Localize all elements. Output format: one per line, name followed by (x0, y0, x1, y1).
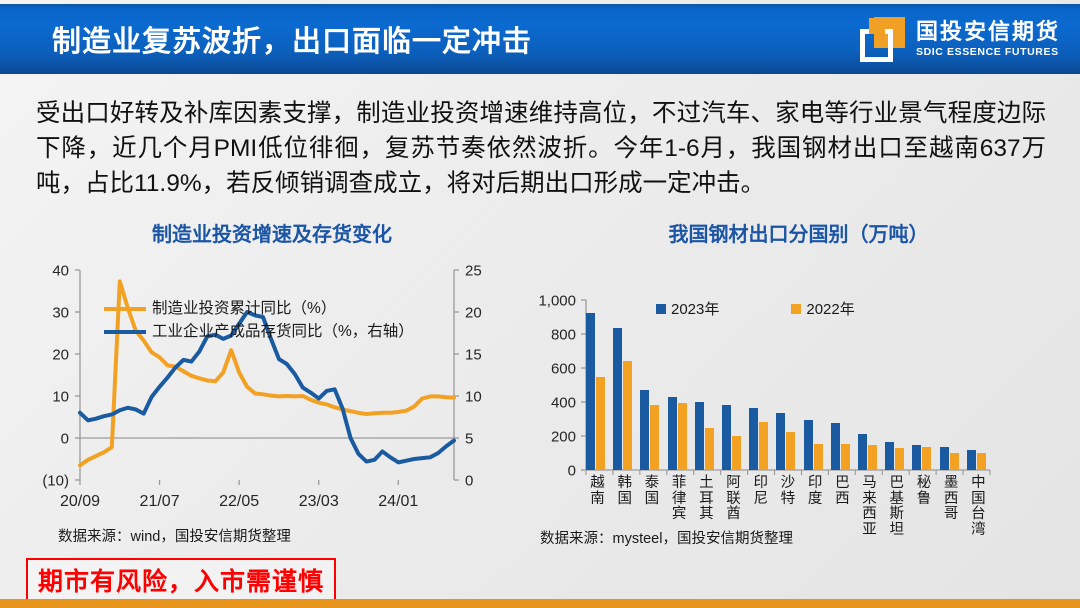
left-chart-panel: 制造业投资增速及存货变化 403020100(10)252015105020/0… (22, 218, 522, 538)
bar-category-label: 墨西哥 (940, 476, 963, 571)
bar-category-label: 巴基斯坦 (885, 476, 908, 571)
bar-group (858, 300, 881, 470)
svg-text:(10): (10) (42, 473, 69, 490)
line-chart-legend: 制造业投资累计同比（%） 工业企业产成品存货同比（%，右轴） (104, 297, 414, 343)
bar-category-label: 中国台湾 (967, 476, 990, 571)
svg-text:24/01: 24/01 (378, 493, 418, 510)
svg-text:10: 10 (52, 389, 69, 406)
bar-2022 (678, 403, 687, 470)
bar-group (586, 300, 609, 470)
bar-category-label: 秘鲁 (912, 476, 935, 571)
bar-group (967, 300, 990, 470)
bar-chart: 1,0008006004002000 2023年 2022年 越南韩国泰国菲律宾… (526, 252, 1071, 538)
bar-group (831, 300, 854, 470)
bar-category-label: 菲律宾 (668, 476, 691, 571)
legend-swatch-investment (104, 307, 146, 311)
bar-2022 (922, 447, 931, 470)
svg-text:5: 5 (465, 431, 473, 448)
summary-paragraph: 受出口好转及补库因素支撑，制造业投资增速维持高位，不过汽车、家电等行业景气程度边… (36, 96, 1046, 201)
svg-text:800: 800 (551, 327, 576, 344)
svg-text:25: 25 (465, 263, 482, 280)
svg-text:20: 20 (465, 305, 482, 322)
bar-category-label: 泰国 (640, 476, 663, 571)
bar-2023 (776, 413, 785, 470)
bar-2022 (977, 453, 986, 470)
line-chart-svg: 403020100(10)252015105020/0921/0722/0523… (22, 252, 522, 538)
bar-category-label: 韩国 (613, 476, 636, 571)
bar-group (668, 300, 691, 470)
right-chart-panel: 我国钢材出口分国别（万吨） 1,0008006004002000 2023年 2… (526, 218, 1071, 538)
svg-text:10: 10 (465, 389, 482, 406)
right-chart-source: 数据来源：mysteel，国投安信期货整理 (540, 527, 793, 548)
bar-2023 (695, 402, 704, 470)
bar-2022 (814, 444, 823, 470)
svg-text:21/07: 21/07 (140, 493, 180, 510)
bar-2022 (650, 405, 659, 470)
bar-category-label: 印尼 (749, 476, 772, 571)
bar-2022 (623, 361, 632, 470)
bar-category-label: 阿联酋 (722, 476, 745, 571)
bar-2022 (950, 453, 959, 471)
bar-2022 (841, 444, 850, 470)
bar-2023 (967, 450, 976, 470)
svg-text:15: 15 (465, 347, 482, 364)
logo-name-cn: 国投安信期货 (916, 21, 1060, 43)
svg-text:0: 0 (61, 431, 69, 448)
bar-2023 (858, 434, 867, 470)
bar-series-container (586, 300, 990, 470)
legend-label-inventory: 工业企业产成品存货同比（%，右轴） (152, 320, 414, 343)
bar-2023 (804, 420, 813, 470)
page-header: 制造业复苏波折，出口面临一定冲击 国投安信期货 SDIC ESSENCE FUT… (0, 4, 1080, 74)
bar-group (722, 300, 745, 470)
bar-2023 (831, 423, 840, 470)
bar-group (940, 300, 963, 470)
bar-2023 (722, 405, 731, 470)
company-logo: 国投安信期货 SDIC ESSENCE FUTURES (860, 17, 1066, 62)
right-chart-title: 我国钢材出口分国别（万吨） (526, 218, 1071, 247)
svg-text:23/03: 23/03 (299, 493, 339, 510)
page-title: 制造业复苏波折，出口面临一定冲击 (52, 18, 532, 60)
legend-swatch-inventory (104, 330, 146, 334)
svg-text:20/09: 20/09 (60, 493, 100, 510)
bar-category-label: 沙特 (776, 476, 799, 571)
bar-group (885, 300, 908, 470)
bar-category-label: 越南 (586, 476, 609, 571)
bottom-accent-strip (0, 599, 1080, 608)
legend-label-investment: 制造业投资累计同比（%） (152, 297, 336, 320)
svg-text:0: 0 (465, 473, 473, 490)
legend-item-investment: 制造业投资累计同比（%） (104, 297, 414, 320)
bar-category-label: 马来西亚 (858, 476, 881, 571)
bar-group (695, 300, 718, 470)
line-chart: 403020100(10)252015105020/0921/0722/0523… (22, 252, 522, 538)
bar-2022 (868, 445, 877, 470)
bar-2023 (749, 408, 758, 470)
svg-text:0: 0 (568, 463, 576, 480)
bar-2022 (895, 448, 904, 470)
bar-group (640, 300, 663, 470)
svg-text:22/05: 22/05 (219, 493, 259, 510)
bar-group (804, 300, 827, 470)
bar-2022 (759, 422, 768, 470)
bar-2022 (705, 428, 714, 470)
bar-2022 (786, 432, 795, 470)
bar-2023 (613, 328, 622, 470)
svg-text:400: 400 (551, 395, 576, 412)
bar-2023 (912, 445, 921, 470)
svg-text:30: 30 (52, 305, 69, 322)
bar-category-label: 巴西 (831, 476, 854, 571)
bar-2023 (640, 390, 649, 470)
bar-group (776, 300, 799, 470)
svg-text:40: 40 (52, 263, 69, 280)
svg-text:20: 20 (52, 347, 69, 364)
bar-category-label: 土耳其 (695, 476, 718, 571)
bar-category-label: 印度 (804, 476, 827, 571)
svg-text:600: 600 (551, 361, 576, 378)
left-chart-title: 制造业投资增速及存货变化 (22, 218, 522, 247)
sdic-logo-icon (860, 17, 907, 62)
logo-name-en: SDIC ESSENCE FUTURES (916, 47, 1060, 58)
svg-text:200: 200 (551, 429, 576, 446)
bar-category-labels: 越南韩国泰国菲律宾土耳其阿联酋印尼沙特印度巴西马来西亚巴基斯坦秘鲁墨西哥中国台湾 (586, 476, 990, 571)
bar-group (749, 300, 772, 470)
bar-group (912, 300, 935, 470)
bar-2023 (885, 442, 894, 470)
svg-text:1,000: 1,000 (538, 293, 576, 310)
bar-2023 (940, 447, 949, 470)
bar-2022 (732, 436, 741, 470)
legend-item-inventory: 工业企业产成品存货同比（%，右轴） (104, 320, 414, 343)
risk-disclaimer: 期市有风险，入市需谨慎 (26, 558, 336, 604)
left-chart-source: 数据来源：wind，国投安信期货整理 (58, 525, 291, 546)
bar-2022 (596, 377, 605, 470)
bar-2023 (586, 313, 595, 470)
bar-group (613, 300, 636, 470)
bar-2023 (668, 397, 677, 470)
